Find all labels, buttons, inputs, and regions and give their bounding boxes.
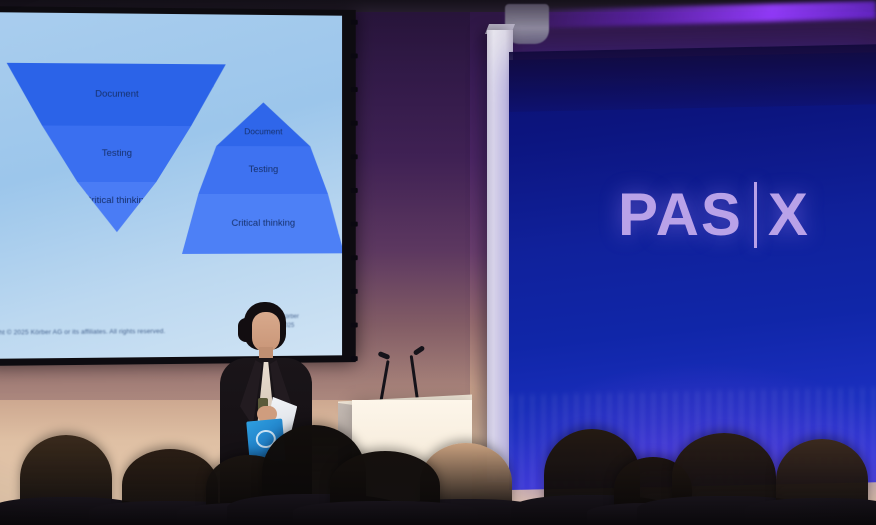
- audience-shoulders: [293, 501, 478, 525]
- conference-stage-photo: level ents nd Document Testing Critical …: [0, 0, 876, 525]
- led-wall-screen: [509, 52, 876, 490]
- pyramid-band-critical-thinking: Critical thinking: [182, 194, 342, 254]
- pasx-logo-separator: [754, 182, 757, 248]
- pasx-logo-pas: PAS: [618, 185, 743, 245]
- screen-clips: [351, 20, 359, 356]
- pyramid-band-document: Document: [182, 102, 342, 146]
- slide-copyright-footer: k - Copyright © 2025 Körber AG or its af…: [0, 328, 165, 337]
- pasx-logo-x: X: [768, 185, 810, 245]
- audience-shoulders: [745, 498, 876, 525]
- pasx-logo: PAS X: [618, 182, 810, 248]
- pyramid-band-testing: Testing: [182, 146, 342, 194]
- pyramid-diagram: Document Testing Critical thinking: [182, 102, 342, 254]
- presenter-face: [252, 312, 280, 352]
